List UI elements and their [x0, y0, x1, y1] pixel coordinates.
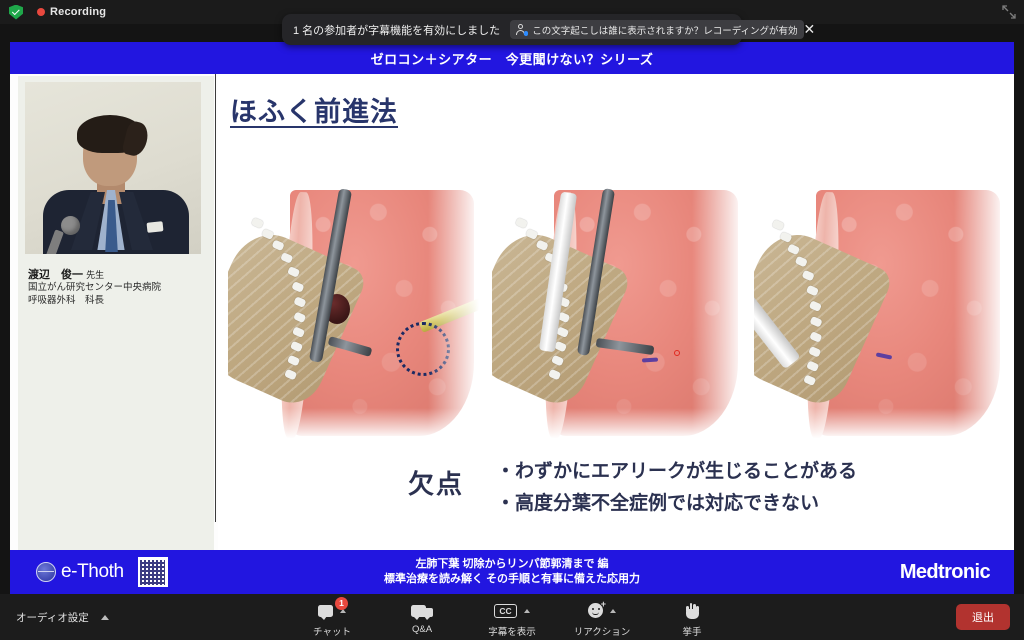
speaker-info-column: 渡辺 俊一 先生 国立がん研究センター中央病院 呼吸器外科 科長 — [18, 76, 214, 554]
chip-label: この文字起こしは誰に表示されますか？レコーディングが有効 — [532, 23, 797, 37]
speaker-org-line-1: 国立がん研究センター中央病院 — [28, 281, 212, 294]
slide-footer-band: e-Thoth 左肺下葉 切除からリンパ節郭清まで 編 標準治療を読み解く その… — [10, 550, 1014, 594]
notification-message: 1 名の参加者が字幕機能を有効にしました — [293, 22, 500, 38]
chat-unread-badge: 1 — [335, 597, 348, 610]
recording-label: Recording — [50, 6, 106, 18]
chat-button[interactable]: 1 チャット — [301, 597, 363, 638]
speaker-org-line-2: 呼吸器外科 科長 — [28, 294, 212, 307]
slide-body: 渡辺 俊一 先生 国立がん研究センター中央病院 呼吸器外科 科長 ほふく前進法 — [10, 74, 1014, 564]
drawback-label: 欠点 — [408, 464, 464, 501]
show-captions-button[interactable]: CC 字幕を表示 — [481, 597, 543, 638]
raise-hand-icon — [685, 602, 700, 619]
speaker-name: 渡辺 俊一 先生 — [28, 266, 208, 282]
meeting-control-bar: オーディオ設定 1 チャット Q&A — [0, 594, 1024, 640]
slide-footer-subtitle: 左肺下葉 切除からリンパ節郭清まで 編 標準治療を読み解く その手順と有事に備え… — [10, 557, 1014, 587]
surgical-illustration-panel-2 — [492, 182, 752, 442]
bullet-item: ・わずかにエアリークが生じることがある — [496, 456, 857, 488]
qa-label: Q&A — [412, 624, 432, 635]
show-captions-label: 字幕を表示 — [488, 624, 536, 638]
slide-header-band: ゼロコン＋シアター 今更聞けない？シリーズ — [10, 42, 1014, 74]
surgical-illustration-panel-1 — [228, 182, 488, 442]
chat-bubble-icon — [318, 605, 333, 617]
shared-screen-stage: ゼロコン＋シアター 今更聞けない？シリーズ — [10, 42, 1014, 594]
speaker-honorific: 先生 — [86, 270, 104, 280]
column-divider — [215, 74, 216, 522]
chevron-up-icon[interactable] — [610, 609, 616, 613]
control-bar-center-group: 1 チャット Q&A CC 字幕を表示 — [0, 597, 1024, 638]
expand-icon[interactable] — [1002, 5, 1016, 19]
footer-line-2: 標準治療を読み解く その手順と有事に備えた応用力 — [10, 572, 1014, 587]
footer-line-1: 左肺下葉 切除からリンパ節郭清まで 編 — [10, 557, 1014, 572]
surgical-illustration-panel-3 — [754, 182, 1014, 442]
caption-notification-toast: 1 名の参加者が字幕機能を有効にしました この文字起こしは誰に表示されますか？レ… — [282, 14, 742, 45]
reaction-emoji-icon: + — [588, 603, 603, 618]
surgical-illustration-row — [224, 182, 1014, 442]
presentation-slide: ゼロコン＋シアター 今更聞けない？シリーズ — [10, 42, 1014, 594]
leave-meeting-button[interactable]: 退出 — [956, 604, 1010, 630]
bullet-item: ・高度分葉不全症例では対応できない — [496, 488, 857, 520]
chat-label: チャット — [313, 624, 351, 638]
reactions-button[interactable]: + リアクション — [571, 597, 633, 638]
close-icon[interactable]: ✕ — [804, 17, 816, 43]
reactions-label: リアクション — [574, 624, 631, 638]
qa-button[interactable]: Q&A — [391, 597, 453, 635]
speaker-name-text: 渡辺 俊一 — [28, 269, 83, 281]
slide-title: ほふく前進法 — [230, 90, 398, 129]
chevron-up-icon[interactable] — [524, 609, 530, 613]
raise-hand-label: 挙手 — [682, 624, 701, 638]
drawback-bullet-list: ・わずかにエアリークが生じることがある ・高度分葉不全症例では対応できない — [496, 456, 857, 520]
shield-check-icon — [9, 5, 23, 20]
closed-caption-icon: CC — [494, 604, 516, 618]
slide-content-area: ほふく前進法 — [218, 74, 1014, 564]
person-caption-icon — [516, 24, 528, 36]
zoom-meeting-window: Recording 1 名の参加者が字幕機能を有効にしました この文字起こしは誰… — [0, 0, 1024, 640]
slide-series-title: ゼロコン＋シアター 今更聞けない？シリーズ — [371, 49, 654, 68]
speaker-video-thumbnail[interactable] — [25, 82, 201, 254]
recording-dot-icon — [37, 8, 45, 16]
speaker-affiliation: 国立がん研究センター中央病院 呼吸器外科 科長 — [28, 281, 212, 307]
sponsor-logo: Medtronic — [900, 561, 990, 584]
raise-hand-button[interactable]: 挙手 — [661, 597, 723, 638]
transcript-visibility-chip[interactable]: この文字起こしは誰に表示されますか？レコーディングが有効 — [510, 20, 803, 39]
qa-bubbles-icon — [411, 601, 433, 621]
